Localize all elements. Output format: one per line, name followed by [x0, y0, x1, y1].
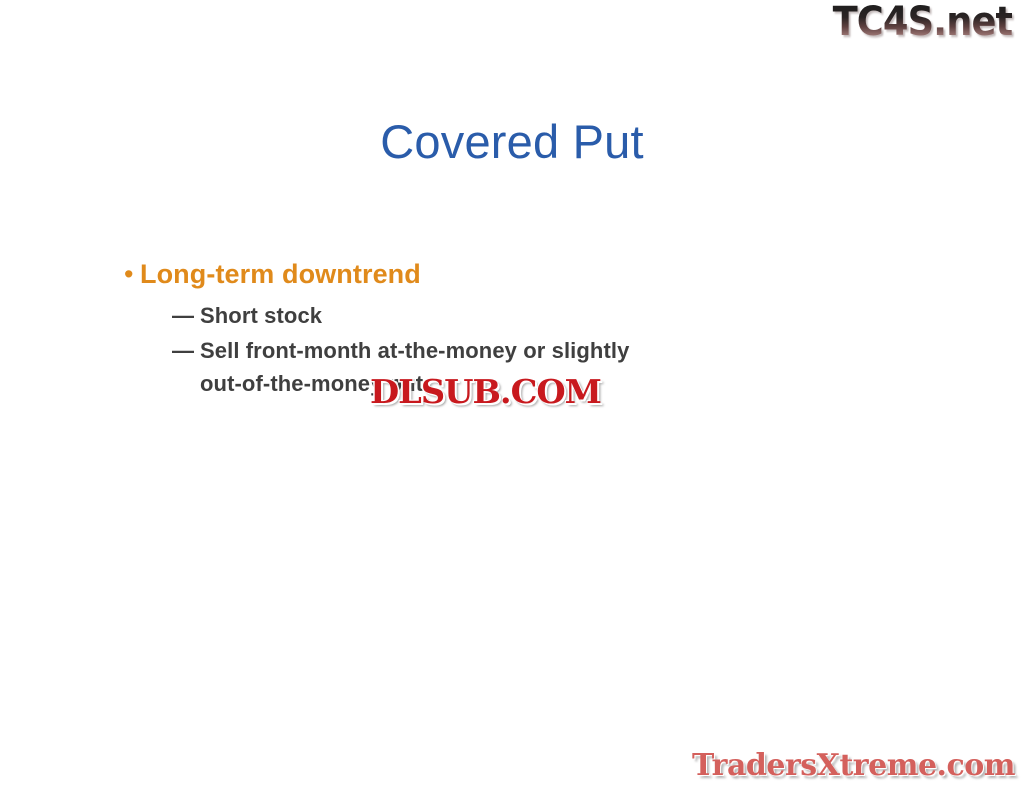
- sub-bullet-item: — Short stock: [172, 299, 738, 332]
- tradersxtreme-watermark: TradersXtreme.com: [692, 750, 1015, 782]
- dlsub-watermark: DLSUB.COM: [370, 374, 601, 410]
- em-dash-icon: —: [172, 299, 200, 332]
- em-dash-icon: —: [172, 334, 200, 367]
- sub-bullet-label: Short stock: [200, 299, 322, 332]
- bullet-label: Long-term downtrend: [140, 255, 421, 293]
- bullet-item: • Long-term downtrend: [118, 255, 738, 293]
- bullet-dot-icon: •: [118, 255, 140, 293]
- presentation-slide: TC4S.net Covered Put • Long-term downtre…: [0, 0, 1024, 791]
- tc4s-watermark: TC4S.net: [832, 2, 1012, 42]
- slide-title: Covered Put: [0, 116, 1024, 168]
